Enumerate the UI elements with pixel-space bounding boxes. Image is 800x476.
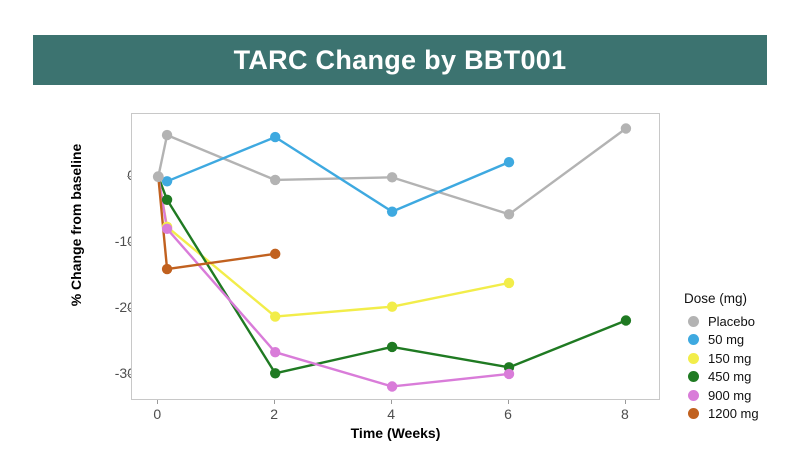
data-point	[387, 342, 397, 352]
series-1200-mg	[158, 177, 275, 269]
data-point	[504, 369, 514, 379]
legend-dot	[688, 316, 699, 327]
series-placebo	[158, 129, 626, 215]
legend-dot	[688, 334, 699, 345]
legend-dot	[688, 390, 699, 401]
legend-item-label: 450 mg	[708, 369, 751, 384]
series-line	[158, 177, 275, 269]
chart-legend: Dose (mg) Placebo50 mg150 mg450 mg900 mg…	[684, 291, 794, 423]
title-banner: TARC Change by BBT001	[33, 35, 767, 85]
legend-marker-icon	[684, 333, 702, 347]
x-tick-label: 8	[605, 406, 645, 422]
legend-marker-icon	[684, 314, 702, 328]
markers-placebo	[162, 123, 631, 219]
data-point	[270, 368, 280, 378]
data-point	[621, 123, 631, 133]
legend-dot	[688, 408, 699, 419]
plot-svg	[132, 114, 661, 401]
data-point	[387, 206, 397, 216]
legend-item-450-mg[interactable]: 450 mg	[684, 368, 794, 387]
plot-panel	[131, 113, 660, 400]
page-title: TARC Change by BBT001	[234, 45, 567, 76]
legend-items: Placebo50 mg150 mg450 mg900 mg1200 mg	[684, 312, 794, 423]
x-tick-label: 2	[254, 406, 294, 422]
legend-item-900-mg[interactable]: 900 mg	[684, 386, 794, 405]
legend-dot	[688, 371, 699, 382]
data-point	[387, 381, 397, 391]
baseline-data-point	[153, 171, 164, 182]
legend-dot	[688, 353, 699, 364]
legend-item-50-mg[interactable]: 50 mg	[684, 331, 794, 350]
legend-marker-icon	[684, 370, 702, 384]
legend-title: Dose (mg)	[684, 291, 794, 306]
legend-marker-icon	[684, 407, 702, 421]
slide-canvas: TARC Change by BBT001 % Change from base…	[0, 0, 800, 476]
legend-item-label: 1200 mg	[708, 406, 759, 421]
markers-150-mg	[162, 222, 514, 322]
data-point	[504, 278, 514, 288]
series-line	[158, 137, 509, 212]
markers-50-mg	[162, 132, 514, 217]
legend-marker-icon	[684, 351, 702, 365]
x-tick-label: 0	[137, 406, 177, 422]
x-axis-title: Time (Weeks)	[131, 425, 660, 441]
data-point	[162, 195, 172, 205]
legend-item-label: Placebo	[708, 314, 755, 329]
legend-item-150-mg[interactable]: 150 mg	[684, 349, 794, 368]
series-line	[158, 177, 509, 387]
series-line	[158, 129, 626, 215]
markers-450-mg	[162, 195, 631, 379]
data-point	[162, 224, 172, 234]
legend-item-label: 900 mg	[708, 388, 751, 403]
data-point	[270, 249, 280, 259]
chart-figure: % Change from baseline Time (Weeks) 0-10…	[0, 95, 800, 476]
y-axis-title: % Change from baseline	[68, 125, 84, 325]
data-point	[504, 209, 514, 219]
data-point	[270, 347, 280, 357]
series-900-mg	[158, 177, 509, 387]
data-point	[270, 311, 280, 321]
data-point	[270, 175, 280, 185]
data-point	[270, 132, 280, 142]
legend-item-label: 50 mg	[708, 332, 744, 347]
legend-marker-icon	[684, 388, 702, 402]
x-tick-label: 6	[488, 406, 528, 422]
legend-item-1200-mg[interactable]: 1200 mg	[684, 405, 794, 424]
data-point	[387, 172, 397, 182]
data-point	[387, 301, 397, 311]
markers-900-mg	[162, 224, 514, 392]
x-tick-label: 4	[371, 406, 411, 422]
series-50-mg	[158, 137, 509, 212]
data-point	[162, 130, 172, 140]
data-point	[621, 315, 631, 325]
legend-item-placebo[interactable]: Placebo	[684, 312, 794, 331]
data-point	[504, 157, 514, 167]
legend-item-label: 150 mg	[708, 351, 751, 366]
data-point	[162, 264, 172, 274]
